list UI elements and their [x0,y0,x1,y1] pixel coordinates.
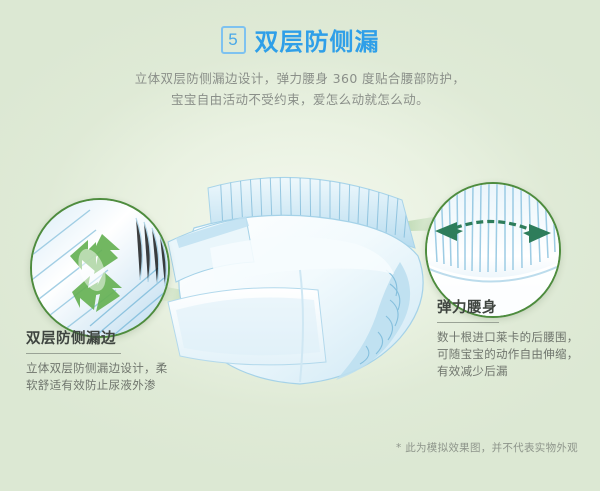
subtitle: 立体双层防侧漏边设计，弹力腰身 360 度贴合腰部防护， 宝宝自由活动不受约束，… [0,68,600,110]
callout-right-body-1: 数十根进口莱卡的后腰围， [437,329,597,346]
step-number-badge: 5 [221,26,246,54]
zoom-circle-leak-guard [30,198,170,338]
subtitle-line-1: 立体双层防侧漏边设计，弹力腰身 360 度贴合腰部防护， [0,68,600,89]
callout-left: 双层防侧漏边 立体双层防侧漏边设计，柔 软舒适有效防止尿液外渗 [26,327,196,394]
callout-left-underline [26,353,121,354]
callout-left-heading: 双层防侧漏边 [26,327,196,348]
callout-right-body-3: 有效减少后漏 [437,363,597,380]
page-title: 双层防侧漏 [255,22,380,57]
title-row: 5 双层防侧漏 [0,22,600,57]
product-feature-slide: 5 双层防侧漏 立体双层防侧漏边设计，弹力腰身 360 度贴合腰部防护， 宝宝自… [0,0,600,491]
callout-right-heading: 弹力腰身 [437,296,597,317]
callout-left-body-1: 立体双层防侧漏边设计，柔 [26,360,196,377]
callout-right-body-2: 可随宝宝的动作自由伸缩， [437,346,597,363]
header: 5 双层防侧漏 立体双层防侧漏边设计，弹力腰身 360 度贴合腰部防护， 宝宝自… [0,22,600,110]
callout-right-underline [437,322,499,323]
subtitle-line-2: 宝宝自由活动不受约束，爱怎么动就怎么动。 [0,89,600,110]
footnote-disclaimer: * 此为模拟效果图，并不代表实物外观 [396,440,578,455]
callout-right: 弹力腰身 数十根进口莱卡的后腰围， 可随宝宝的动作自由伸缩， 有效减少后漏 [437,296,597,380]
callout-left-body-2: 软舒适有效防止尿液外渗 [26,377,196,394]
